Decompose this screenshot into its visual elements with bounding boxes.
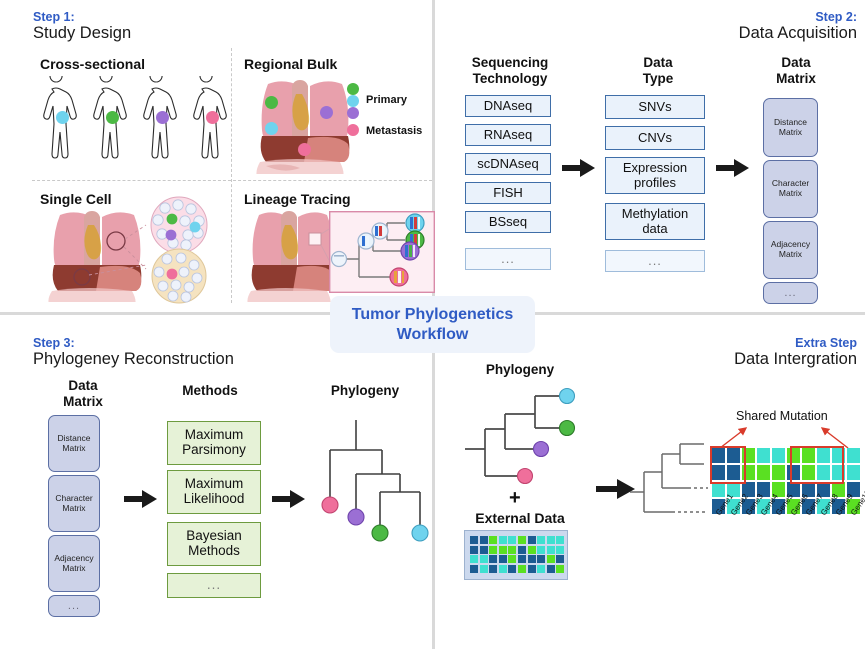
heatmap-cell xyxy=(537,565,545,573)
heatmap-cell xyxy=(489,546,497,554)
heatmap-cell xyxy=(480,555,488,563)
heading-line-1: Data xyxy=(753,55,839,71)
regional-sample-dot-green xyxy=(265,96,278,109)
step3-tag: Step 3: xyxy=(33,336,234,350)
phylo-tip-purple xyxy=(348,509,364,525)
column-heading-methods: Methods xyxy=(155,383,265,399)
method-box-maximum-parsimony[interactable]: Maximum Parsimony xyxy=(167,421,261,465)
heatmap-cell xyxy=(528,565,536,573)
heatmap-cell xyxy=(556,565,564,573)
heatmap-cell xyxy=(489,565,497,573)
heatmap-cell xyxy=(772,448,785,463)
regional-sample-dot-cyan xyxy=(265,122,278,135)
heatmap-cell xyxy=(489,536,497,544)
heatmap-cell xyxy=(470,565,478,573)
heatmap-cell xyxy=(499,565,507,573)
matrix-box-distance[interactable]: Distance Matrix xyxy=(763,98,818,157)
heading-line-2: Technology xyxy=(455,71,565,87)
extra-step-title: Data Intergration xyxy=(585,350,857,370)
heatmap-cell xyxy=(556,555,564,563)
heatmap-cell xyxy=(508,565,516,573)
datatype-box-more[interactable]: ... xyxy=(605,250,705,272)
heatmap-cell xyxy=(757,448,770,463)
heatmap-cell xyxy=(528,546,536,554)
heatmap-cell xyxy=(537,536,545,544)
heading-line-2: Type xyxy=(608,71,708,87)
heatmap-cell xyxy=(847,448,860,463)
panel-heading-single-cell: Single Cell xyxy=(40,191,112,207)
heading-line-1: Sequencing xyxy=(455,55,565,71)
heatmap-cell xyxy=(772,465,785,480)
seqtech-box-dnaseq[interactable]: DNAseq xyxy=(465,95,551,117)
plus-symbol: + xyxy=(509,487,521,510)
step3-matrix-box-distance[interactable]: Distance Matrix xyxy=(48,415,100,472)
column-heading-sequencing-technology: Sequencing Technology xyxy=(455,55,565,86)
heatmap-cell xyxy=(547,565,555,573)
heatmap-cell xyxy=(528,555,536,563)
step3-matrix-box-character[interactable]: Character Matrix xyxy=(48,475,100,532)
shared-mutation-highlight-right xyxy=(790,446,844,484)
legend-dot-primary-purple xyxy=(347,107,359,119)
heatmap-cell xyxy=(508,555,516,563)
external-data-heading: External Data xyxy=(455,510,585,526)
heatmap-cell xyxy=(847,465,860,480)
step1-title: Study Design xyxy=(33,24,131,44)
panel-heading-cross-sectional: Cross-sectional xyxy=(40,56,145,72)
step1-inner-horizontal-divider xyxy=(32,180,432,181)
seqtech-box-rnaseq[interactable]: RNAseq xyxy=(465,124,551,146)
step2-header: Step 2: Data Acquisition xyxy=(585,10,857,44)
step2-tag: Step 2: xyxy=(585,10,857,24)
column-heading-data-type: Data Type xyxy=(608,55,708,86)
heatmap-cell xyxy=(499,536,507,544)
column-heading-data-matrix: Data Matrix xyxy=(753,55,839,86)
arrow-seqtech-to-datatype xyxy=(562,158,596,178)
panel-heading-lineage-tracing: Lineage Tracing xyxy=(244,191,351,207)
heatmap-cell xyxy=(528,536,536,544)
heatmap-cell xyxy=(757,465,770,480)
heatmap-cell xyxy=(537,555,545,563)
column-heading-step3-data-matrix: Data Matrix xyxy=(40,378,126,409)
heatmap-cell xyxy=(518,546,526,554)
badge-line-2: Workflow xyxy=(352,325,514,345)
heatmap-cell xyxy=(537,546,545,554)
phylogeny-tree-step3 xyxy=(312,418,432,553)
lineage-tracing-inset-tree xyxy=(329,211,435,293)
datatype-box-methylation-data[interactable]: Methylation data xyxy=(605,203,705,240)
step3-matrix-box-more[interactable]: ... xyxy=(48,595,100,617)
panel-heading-regional-bulk: Regional Bulk xyxy=(244,56,337,72)
arrow-methods-to-phylogeny xyxy=(272,489,306,509)
heatmap-cell xyxy=(518,565,526,573)
figure-canvas: Step 1: Study Design Cross-sectional Reg… xyxy=(0,0,865,649)
matrix-box-character[interactable]: Character Matrix xyxy=(763,160,818,218)
extra-tip-purple xyxy=(534,442,549,457)
step3-header: Step 3: Phylogeney Reconstruction xyxy=(33,336,234,370)
seqtech-box-more[interactable]: ... xyxy=(465,248,551,270)
datatype-box-snvs[interactable]: SNVs xyxy=(605,95,705,119)
method-box-maximum-likelihood[interactable]: Maximum Likelihood xyxy=(167,470,261,514)
arrow-datatype-to-datamatrix xyxy=(716,158,750,178)
heatmap-cell xyxy=(480,536,488,544)
phylo-tip-pink xyxy=(322,497,338,513)
seqtech-box-bsseq[interactable]: BSseq xyxy=(465,211,551,233)
method-box-more[interactable]: ... xyxy=(167,573,261,598)
legend-label-primary: Primary xyxy=(366,94,407,106)
heatmap-cell xyxy=(489,555,497,563)
heading-line-1: Data xyxy=(608,55,708,71)
subject-dot-1 xyxy=(56,111,69,124)
seqtech-box-fish[interactable]: FISH xyxy=(465,182,551,204)
center-title-badge: Tumor Phylogenetics Workflow xyxy=(330,296,535,353)
legend-label-metastasis: Metastasis xyxy=(366,125,422,137)
heatmap-cell xyxy=(470,536,478,544)
heatmap-cell xyxy=(499,546,507,554)
phylogeny-tree-extra-step xyxy=(463,386,588,496)
heatmap-cell xyxy=(547,546,555,554)
heatmap-cell xyxy=(547,536,555,544)
heatmap-cell xyxy=(470,546,478,554)
subject-dot-4 xyxy=(206,111,219,124)
heatmap-cell xyxy=(480,565,488,573)
extra-tip-green xyxy=(560,421,575,436)
heading-line-2: Matrix xyxy=(753,71,839,87)
method-box-bayesian-methods[interactable]: Bayesian Methods xyxy=(167,522,261,566)
cross-sectional-figures xyxy=(32,76,232,174)
step1-tag: Step 1: xyxy=(33,10,131,24)
heatmap-cell xyxy=(499,555,507,563)
heading-line-2: Matrix xyxy=(40,394,126,410)
phylo-tip-cyan xyxy=(412,525,428,541)
datatype-box-cnvs[interactable]: CNVs xyxy=(605,126,705,150)
heatmap-cell xyxy=(518,536,526,544)
subject-dot-3 xyxy=(156,111,169,124)
heatmap-cell xyxy=(508,536,516,544)
torso-illustration-lineage xyxy=(243,207,343,302)
torso-illustration-single-cell xyxy=(42,207,152,302)
heatmap-cell xyxy=(518,555,526,563)
heatmap-cell xyxy=(712,482,725,497)
heatmap-cell xyxy=(480,546,488,554)
legend-dot-primary-cyan xyxy=(347,95,359,107)
single-cell-inset-metastasis xyxy=(145,248,213,304)
seqtech-box-scdnaseq[interactable]: scDNAseq xyxy=(465,153,551,175)
heading-line-1: Data xyxy=(40,378,126,394)
step1-header: Step 1: Study Design xyxy=(33,10,131,44)
shared-mutation-highlight-left xyxy=(710,446,746,484)
legend-dot-metastasis xyxy=(347,124,359,136)
extra-step-tag: Extra Step xyxy=(585,336,857,350)
legend-dot-primary-green xyxy=(347,83,359,95)
badge-line-1: Tumor Phylogenetics xyxy=(352,305,514,325)
regional-sample-dot-pink xyxy=(298,143,311,156)
extra-tip-pink xyxy=(518,469,533,484)
extra-step-header: Extra Step Data Intergration xyxy=(585,336,857,370)
arrow-matrix-to-methods xyxy=(124,489,158,509)
extra-tip-cyan xyxy=(560,389,575,404)
step2-title: Data Acquisition xyxy=(585,24,857,44)
matrix-box-adjacency[interactable]: Adjacency Matrix xyxy=(763,221,818,279)
external-data-panel xyxy=(464,530,568,580)
step3-matrix-box-adjacency[interactable]: Adjacency Matrix xyxy=(48,535,100,592)
step3-title: Phylogeney Reconstruction xyxy=(33,350,234,370)
column-heading-phylogeny-extra: Phylogeny xyxy=(460,362,580,378)
phylo-tip-green xyxy=(372,525,388,541)
heatmap-cell xyxy=(556,536,564,544)
datatype-box-expression-profiles[interactable]: Expression profiles xyxy=(605,157,705,194)
single-cell-inset-primary xyxy=(145,196,213,254)
column-heading-phylogeny-step3: Phylogeny xyxy=(310,383,420,399)
subject-dot-2 xyxy=(106,111,119,124)
heatmap-cell xyxy=(547,555,555,563)
heatmap-cell xyxy=(508,546,516,554)
regional-sample-dot-purple xyxy=(320,106,333,119)
heatmap-cell xyxy=(470,555,478,563)
heatmap-cell xyxy=(556,546,564,554)
shared-mutation-label: Shared Mutation xyxy=(736,409,828,423)
matrix-box-more[interactable]: ... xyxy=(763,282,818,304)
